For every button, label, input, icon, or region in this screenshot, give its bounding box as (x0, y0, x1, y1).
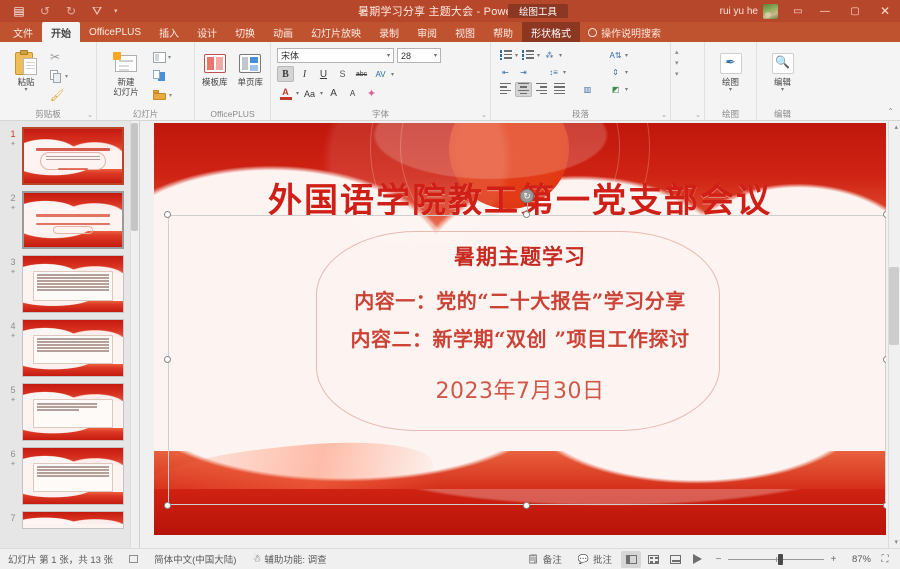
notes-button[interactable]: 🗒 备注 (519, 552, 569, 566)
star-icon: ✦ (4, 140, 22, 148)
thumbnail-number-5: 5✦ (4, 383, 22, 404)
group-label-officeplus: OfficePLUS (199, 108, 266, 120)
window-controls-area: rui yu he ▭ — ▢ ✕ (720, 0, 900, 22)
bold-button[interactable]: B (277, 66, 294, 82)
scroll-down-icon[interactable]: ▾ (894, 538, 898, 546)
thumbnail-preview-4[interactable] (22, 319, 124, 377)
group-label-drawing: 绘图 (709, 108, 752, 120)
comments-label: 批注 (593, 552, 612, 566)
decrease-indent-button[interactable]: ⇤ (497, 65, 514, 80)
thumbnail-item-6[interactable]: 6✦ (0, 447, 139, 511)
maximize-icon[interactable]: ▢ (840, 0, 870, 22)
decrease-indent-icon: ⇤ (502, 68, 509, 77)
shapes-scroll-up-icon[interactable]: ▴ (675, 48, 679, 56)
scissors-icon: ✂ (50, 50, 60, 64)
scroll-up-icon[interactable]: ▴ (894, 123, 898, 131)
thumbnail-preview-6[interactable] (22, 447, 124, 505)
text-direction-button[interactable]: A⇅ (607, 48, 624, 63)
template-library-label: 模板库 (202, 78, 228, 88)
language-status[interactable]: 简体中文(中国大陆) (146, 552, 244, 566)
copy-icon (50, 70, 63, 83)
contextual-tab-label: 绘图工具 (508, 4, 568, 18)
thumbnail-preview-2[interactable] (22, 191, 124, 249)
thumbnail-preview-7[interactable] (22, 511, 124, 529)
slideshow-icon (693, 554, 702, 564)
convert-to-smartart-button[interactable]: ◩ (607, 82, 624, 97)
convert-smartart-chevron-down-icon[interactable]: ▾ (625, 86, 628, 93)
section-chevron-down-icon[interactable]: ▾ (169, 92, 172, 99)
ribbon-group-clipboard: 粘贴 ▾ ✂ ▾ 🖌 剪贴板 ⌄ (0, 42, 96, 120)
view-normal-button[interactable] (621, 551, 641, 568)
star-icon: ✦ (4, 396, 22, 404)
thumbnail-number-3: 3✦ (4, 255, 22, 276)
italic-button[interactable]: I (296, 66, 313, 82)
save-icon[interactable]: ▤ (6, 1, 32, 21)
thumbnail-number-1: 1✦ (4, 127, 22, 148)
strikethrough-button[interactable]: abc (353, 66, 370, 82)
justify-button[interactable] (551, 82, 568, 97)
thumbnail-number-4: 4✦ (4, 319, 22, 340)
ribbon-group-paragraph: ▾ ▾ ⁂ ▾ A⇅ ▾ ⇤ (490, 42, 670, 120)
new-slide-icon (113, 48, 139, 78)
quick-access-toolbar: ▤ ↺ ↻ ⛛ ▾ (0, 1, 122, 21)
zoom-value[interactable]: 87% (843, 554, 871, 565)
slide-canvas[interactable]: 外国语学院教工第一党支部会议 暑期主题学习 内容一：党的“二十大报告”学习分享 … (154, 123, 886, 535)
redo-icon[interactable]: ↻ (58, 1, 84, 21)
tab-transitions[interactable]: 切换 (226, 22, 264, 42)
single-page-library-button[interactable]: 单页库 (235, 46, 267, 88)
align-center-button[interactable] (515, 82, 532, 97)
shapes-more-icon[interactable]: ▾ (675, 70, 679, 78)
thumbnail-number-7: 7 (4, 511, 22, 523)
layout-icon (153, 52, 166, 63)
tab-slideshow[interactable]: 幻灯片放映 (302, 22, 370, 42)
editing-chevron-down-icon[interactable]: ▾ (781, 87, 784, 94)
tab-shape-format[interactable]: 形状格式 (522, 22, 580, 42)
selection-border (168, 215, 886, 505)
convert-to-smartart-icon: ◩ (612, 85, 620, 94)
undo-icon[interactable]: ↺ (32, 1, 58, 21)
thumbnail-preview-1[interactable] (22, 127, 124, 185)
smartart-chevron-down-icon[interactable]: ▾ (559, 52, 562, 59)
numbering-chevron-down-icon[interactable]: ▾ (537, 52, 540, 59)
character-spacing-chevron-down-icon[interactable]: ▾ (391, 71, 394, 78)
selection-frame[interactable]: ↻ (168, 215, 886, 505)
thumbnail-item-4[interactable]: 4✦ (0, 319, 139, 383)
thumbnail-scrollbar-thumb[interactable] (131, 123, 138, 231)
section-button[interactable]: ▾ (151, 87, 174, 103)
tab-officeplus[interactable]: OfficePLUS (80, 22, 150, 42)
copy-chevron-down-icon[interactable]: ▾ (65, 73, 68, 80)
thumbnail-item-2[interactable]: 2✦ (0, 191, 139, 255)
group-label-font: 字体 (275, 108, 486, 120)
title-bar: ▤ ↺ ↻ ⛛ ▾ 暑期学习分享 主题大会 - PowerPoint 绘图工具 … (0, 0, 900, 22)
thumbnail-item-7[interactable]: 7 (0, 511, 139, 535)
single-page-library-label: 单页库 (237, 78, 263, 88)
fit-to-window-button[interactable]: ⛶ (876, 554, 894, 565)
underline-button[interactable]: U (315, 66, 332, 82)
resize-handle-top-left[interactable] (164, 211, 171, 218)
clipboard-dialog-launcher-icon[interactable]: ⌄ (87, 111, 93, 119)
text-direction-icon: A⇅ (610, 51, 622, 60)
close-icon[interactable]: ✕ (870, 0, 900, 22)
group-label-clipboard: 剪贴板 (4, 108, 92, 120)
font-color-label: A (282, 88, 289, 97)
decrease-font-size-button[interactable]: A (344, 86, 361, 102)
minimize-icon[interactable]: — (810, 0, 840, 22)
tab-record[interactable]: 录制 (370, 22, 408, 42)
star-icon: ✦ (4, 204, 22, 212)
line-spacing-chevron-down-icon[interactable]: ▾ (563, 69, 566, 76)
clipboard-icon (14, 48, 38, 78)
single-page-library-icon (239, 48, 261, 78)
align-right-button[interactable] (533, 82, 550, 97)
pen-icon: ✒ (720, 48, 742, 78)
text-shadow-button[interactable]: S (334, 66, 351, 82)
format-painter-button[interactable]: 🖌 (48, 87, 70, 103)
align-text-icon: ⇕ (612, 68, 619, 77)
bullets-chevron-down-icon[interactable]: ▾ (515, 52, 518, 59)
group-label-editing: 编辑 (761, 108, 804, 120)
tab-view[interactable]: 视图 (446, 22, 484, 42)
align-left-button[interactable] (497, 82, 514, 97)
view-reading-button[interactable] (665, 551, 685, 568)
justify-icon (554, 83, 565, 97)
spelling-status-icon[interactable] (121, 555, 146, 563)
thumbnail-item-3[interactable]: 3✦ (0, 255, 139, 319)
align-text-button[interactable]: ⇕ (607, 65, 624, 80)
magnifier-icon: 🔍 (772, 48, 794, 78)
font-dialog-launcher-icon[interactable]: ⌄ (481, 111, 487, 119)
shapes-dialog-launcher-icon[interactable]: ⌄ (695, 111, 701, 119)
zoom-out-button[interactable]: − (714, 554, 723, 565)
powerpoint-window: ▤ ↺ ↻ ⛛ ▾ 暑期学习分享 主题大会 - PowerPoint 绘图工具 … (0, 0, 900, 569)
increase-font-size-button[interactable]: A (325, 86, 342, 102)
star-icon: ✦ (4, 268, 22, 276)
resize-handle-middle-right[interactable] (883, 356, 886, 363)
thumbnail-preview-3[interactable] (22, 255, 124, 313)
slide-sorter-icon (648, 555, 659, 564)
smartart-button[interactable]: ⁂ (541, 48, 558, 63)
align-left-icon (500, 83, 511, 97)
view-slideshow-button[interactable] (687, 551, 707, 568)
ribbon-tab-strip: 文件 开始 OfficePLUS 插入 设计 切换 动画 幻灯片放映 录制 审阅… (0, 22, 900, 42)
accessibility-icon: ☃ (252, 554, 261, 565)
new-slide-label-line2: 幻灯片 (113, 88, 139, 98)
font-color-swatch (280, 97, 292, 100)
editor-scrollbar-thumb[interactable] (889, 267, 899, 345)
resize-handle-bottom-center[interactable] (523, 502, 530, 509)
increase-indent-icon: ⇥ (520, 68, 527, 77)
thumbnail-number-6: 6✦ (4, 447, 22, 468)
accessibility-label: 辅助功能: 调查 (264, 552, 326, 566)
group-label-paragraph: 段落 (495, 108, 666, 120)
thumbnail-preview-5[interactable] (22, 383, 124, 441)
ribbon: 粘贴 ▾ ✂ ▾ 🖌 剪贴板 ⌄ (0, 42, 900, 121)
notes-label: 备注 (543, 552, 562, 566)
zoom-slider-thumb[interactable] (778, 554, 783, 565)
normal-view-icon (626, 555, 637, 564)
tab-insert[interactable]: 插入 (150, 22, 188, 42)
account-name[interactable]: rui yu he (720, 6, 763, 17)
thumbnail-number-2: 2✦ (4, 191, 22, 212)
drawing-button[interactable]: ✒ 绘图 ▾ (709, 46, 752, 94)
ribbon-group-officeplus: 模板库 单页库 OfficePLUS (194, 42, 270, 120)
spell-check-icon (129, 555, 138, 563)
ribbon-group-font: 宋体 ▾ 28 ▾ B I U S abc AV ▾ (270, 42, 490, 120)
tab-home[interactable]: 开始 (42, 22, 80, 42)
font-color-button[interactable]: A (277, 85, 294, 102)
resize-handle-bottom-left[interactable] (164, 502, 171, 509)
thumbnail-scrollbar[interactable] (130, 121, 139, 548)
star-icon: ✦ (4, 332, 22, 340)
template-library-button[interactable]: 模板库 (199, 46, 231, 88)
paragraph-dialog-launcher-icon[interactable]: ⌄ (661, 111, 667, 119)
lightbulb-icon (588, 28, 597, 37)
rotation-handle[interactable]: ↻ (520, 189, 534, 203)
align-right-icon (536, 83, 547, 97)
ribbon-group-editing: 🔍 编辑 ▾ 编辑 (756, 42, 808, 120)
font-size-value: 28 (401, 51, 432, 61)
smartart-icon: ⁂ (546, 51, 554, 60)
layout-chevron-down-icon[interactable]: ▾ (168, 54, 171, 61)
zoom-slider-track[interactable] (728, 559, 824, 560)
resize-handle-top-right[interactable] (883, 211, 886, 218)
columns-icon: ▥ (584, 85, 592, 94)
comment-icon: 💬 (578, 554, 589, 565)
avatar[interactable] (763, 4, 778, 19)
clear-formatting-icon[interactable]: ✦ (363, 86, 380, 102)
numbering-icon (522, 50, 534, 60)
reset-button[interactable] (151, 68, 174, 84)
tab-review[interactable]: 审阅 (408, 22, 446, 42)
resize-handle-middle-left[interactable] (164, 356, 171, 363)
font-name-chevron-down-icon[interactable]: ▾ (385, 52, 390, 59)
paste-chevron-down-icon[interactable]: ▾ (24, 87, 27, 94)
font-name-value: 宋体 (281, 49, 385, 62)
slide-counter[interactable]: 幻灯片 第 1 张，共 13 张 (0, 552, 121, 566)
collapse-ribbon-icon[interactable]: ⌃ (887, 107, 894, 116)
template-library-icon (204, 48, 226, 78)
bullets-icon (500, 50, 512, 60)
comments-button[interactable]: 💬 批注 (570, 552, 620, 566)
text-direction-chevron-down-icon[interactable]: ▾ (625, 52, 628, 59)
view-slide-sorter-button[interactable] (643, 551, 663, 568)
bullets-button[interactable] (497, 48, 514, 63)
resize-handle-bottom-right[interactable] (883, 502, 886, 509)
change-case-button[interactable]: Aa (301, 86, 318, 102)
notes-icon: 🗒 (527, 554, 538, 565)
character-spacing-button[interactable]: AV (372, 66, 389, 82)
line-spacing-icon: ↕≡ (549, 68, 558, 77)
numbering-button[interactable] (519, 48, 536, 63)
main-area: 1✦ 2✦ (0, 121, 900, 548)
layout-button[interactable]: ▾ (151, 49, 174, 65)
new-slide-button[interactable]: 新建 幻灯片 (101, 46, 151, 98)
align-center-icon (518, 83, 529, 97)
change-case-chevron-down-icon[interactable]: ▾ (320, 90, 323, 97)
tell-me-search[interactable]: 操作说明搜索 (580, 22, 669, 42)
editor-scrollbar[interactable]: ▴ ▾ (888, 121, 900, 548)
paste-button[interactable]: 粘贴 ▾ (4, 46, 48, 94)
section-icon (153, 89, 167, 101)
columns-button[interactable]: ▥ (579, 82, 596, 97)
cut-button[interactable]: ✂ (48, 49, 70, 65)
font-color-chevron-down-icon[interactable]: ▾ (296, 90, 299, 97)
line-spacing-button[interactable]: ↕≡ (545, 65, 562, 80)
tab-help[interactable]: 帮助 (484, 22, 522, 42)
customize-qat-chevron-icon[interactable]: ▾ (110, 7, 122, 15)
tab-file[interactable]: 文件 (4, 22, 42, 42)
slide-thumbnail-pane: 1✦ 2✦ (0, 121, 140, 548)
editing-button[interactable]: 🔍 编辑 ▾ (761, 46, 804, 94)
start-slideshow-icon[interactable]: ⛛ (84, 1, 110, 21)
drawing-chevron-down-icon[interactable]: ▾ (729, 87, 732, 94)
zoom-slider-tick (776, 557, 777, 562)
align-text-chevron-down-icon[interactable]: ▾ (625, 69, 628, 76)
ribbon-group-drawing: ✒ 绘图 ▾ 绘图 (704, 42, 756, 120)
tab-animations[interactable]: 动画 (264, 22, 302, 42)
star-icon: ✦ (4, 460, 22, 468)
shapes-scroll-down-icon[interactable]: ▾ (675, 59, 679, 67)
ribbon-group-shapes: ▴ ▾ ▾ ⌄ (670, 42, 704, 120)
status-bar: 幻灯片 第 1 张，共 13 张 简体中文(中国大陆) ☃ 辅助功能: 调查 🗒… (0, 548, 900, 569)
accessibility-status[interactable]: ☃ 辅助功能: 调查 (244, 552, 334, 566)
resize-handle-top-center[interactable] (523, 211, 530, 218)
copy-button[interactable]: ▾ (48, 68, 70, 84)
slide-editor[interactable]: 外国语学院教工第一党支部会议 暑期主题学习 内容一：党的“二十大报告”学习分享 … (140, 121, 900, 548)
ribbon-display-options-icon[interactable]: ▭ (786, 0, 810, 22)
zoom-in-button[interactable]: + (829, 554, 838, 565)
group-label-slides: 幻灯片 (101, 108, 190, 120)
ribbon-group-slides: 新建 幻灯片 ▾ ▾ 幻灯片 (96, 42, 194, 120)
format-painter-icon: 🖌 (50, 89, 64, 102)
zoom-control[interactable]: − + 87% ⛶ (708, 554, 900, 565)
tab-design[interactable]: 设计 (188, 22, 226, 42)
reset-icon (153, 70, 166, 82)
increase-indent-button[interactable]: ⇥ (515, 65, 532, 80)
thumbnail-item-5[interactable]: 5✦ (0, 383, 139, 447)
font-size-chevron-down-icon[interactable]: ▾ (432, 52, 437, 59)
reading-view-icon (670, 555, 681, 564)
thumbnail-item-1[interactable]: 1✦ (0, 127, 139, 191)
font-name-combo[interactable]: 宋体 ▾ (277, 48, 394, 63)
tell-me-label: 操作说明搜索 (601, 25, 661, 40)
font-size-combo[interactable]: 28 ▾ (397, 48, 441, 63)
